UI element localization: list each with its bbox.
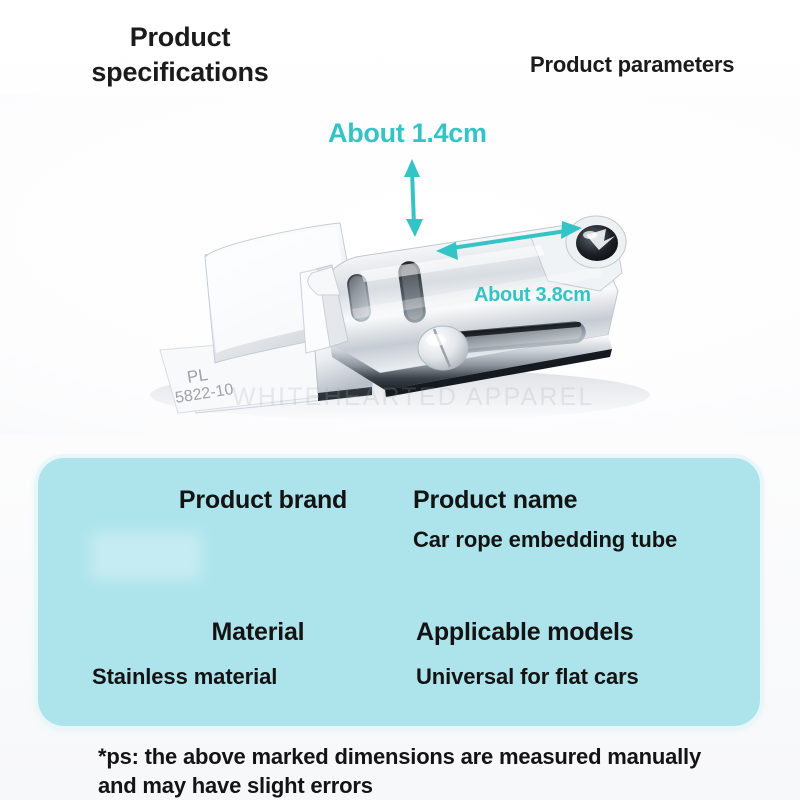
spec-title-brand: Product brand xyxy=(103,486,423,515)
product-parameters-heading: Product parameters xyxy=(530,52,734,78)
product-specifications-heading: Product specifications xyxy=(60,20,300,89)
spec-value-material: Stainless material xyxy=(92,663,418,691)
dimension-label-length: About 3.8cm xyxy=(474,284,591,307)
spec-cell-models: Applicable models Universal for flat car… xyxy=(416,618,746,690)
spec-value-name: Car rope embedding tube xyxy=(413,526,743,554)
specifications-heading-line2: specifications xyxy=(60,55,300,90)
spec-value-models: Universal for flat cars xyxy=(416,663,746,691)
spec-title-material: Material xyxy=(98,618,418,647)
spec-cell-brand: Product brand xyxy=(103,486,423,524)
dimension-label-height: About 1.4cm xyxy=(328,118,487,149)
engraving-model: 5822-10 xyxy=(174,381,235,407)
engraving-pl: PL xyxy=(186,365,210,387)
footnote: *ps: the above marked dimensions are mea… xyxy=(98,742,738,800)
spec-title-models: Applicable models xyxy=(416,618,746,647)
product-detail-page: Product specifications Product parameter… xyxy=(0,0,800,800)
spec-cell-name: Product name Car rope embedding tube xyxy=(413,486,743,553)
specifications-heading-line1: Product xyxy=(60,20,300,55)
specification-panel: Product brand Product name Car rope embe… xyxy=(38,458,760,726)
brand-redacted-area xyxy=(90,532,202,580)
spec-title-name: Product name xyxy=(413,486,743,515)
spec-cell-material: Material Stainless material xyxy=(98,618,418,690)
